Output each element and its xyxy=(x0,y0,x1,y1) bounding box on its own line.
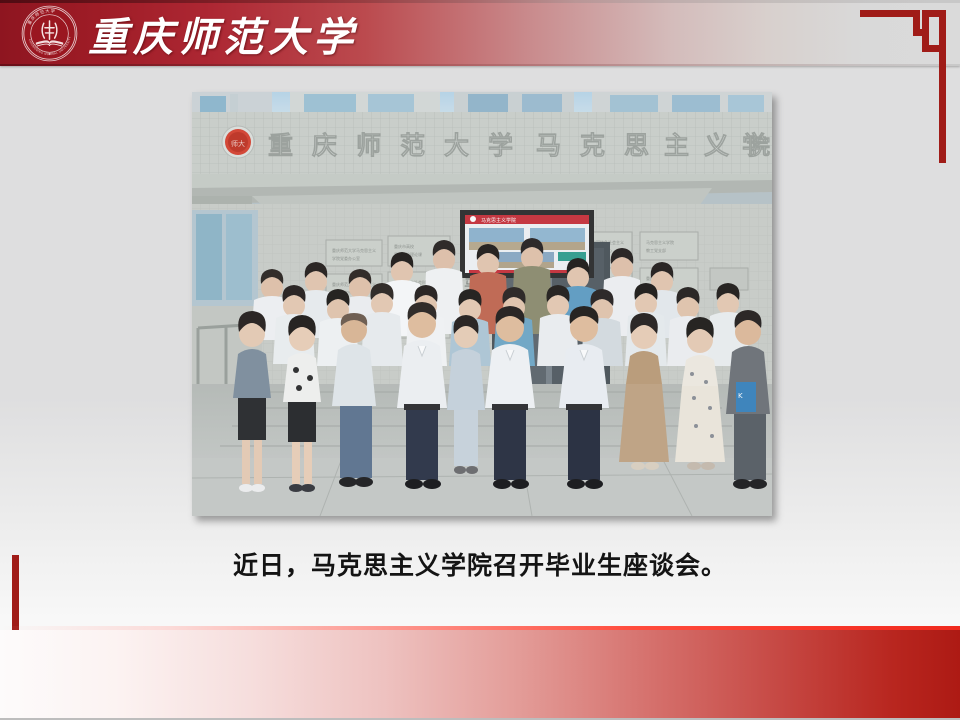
university-seal-icon: 重庆师范大学 CHONGQING NORMAL UNIVERSITY xyxy=(21,5,78,62)
group-photo-image: 师大 重 庆 师 范 大 学 马 克 思 主 义 学 院 xyxy=(192,92,772,516)
presentation-slide: 重庆师范大学 CHONGQING NORMAL UNIVERSITY 重庆师范大… xyxy=(0,0,960,720)
header-top-edge xyxy=(0,0,960,3)
bottom-band xyxy=(0,630,960,718)
group-photo: 师大 重 庆 师 范 大 学 马 克 思 主 义 学 院 xyxy=(192,92,772,516)
university-name: 重庆师范大学 xyxy=(88,8,358,60)
header-bottom-edge xyxy=(0,64,960,66)
slide-caption: 近日，马克思主义学院召开毕业生座谈会。 xyxy=(0,546,960,582)
corner-ornament-top-right-icon xyxy=(860,8,950,166)
